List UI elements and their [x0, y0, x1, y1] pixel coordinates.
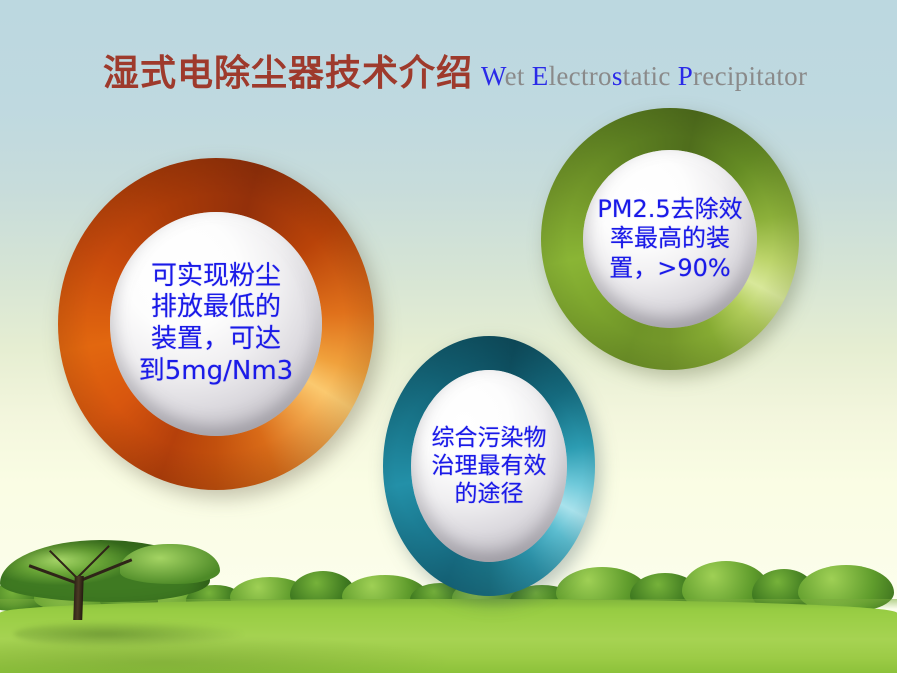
subtitle-segment: W: [481, 61, 505, 91]
subtitle-segment: recipitator: [693, 61, 807, 91]
subtitle-segment: tatic: [623, 61, 678, 91]
bubble-inner-teal: 综合污染物 治理最有效 的途径: [411, 370, 567, 562]
subtitle-segment: lectro: [549, 61, 612, 91]
bubble-inner-green: PM2.5去除效 率最高的装 置，>90%: [583, 150, 757, 328]
foreground-tree: [0, 540, 210, 618]
page-title-chinese: 湿式电除尘器技术介绍: [103, 53, 473, 93]
tree-trunk: [73, 576, 84, 620]
bubble-text-teal: 综合污染物 治理最有效 的途径: [432, 424, 547, 508]
subtitle-segment: et: [505, 61, 532, 91]
slide-heading: 湿式电除尘器技术介绍Wet Electrostatic Precipitator: [103, 44, 807, 96]
bubble-text-green: PM2.5去除效 率最高的装 置，>90%: [597, 195, 742, 283]
bubble-orange[interactable]: 可实现粉尘 排放最低的 装置，可达 到5mg/Nm3: [58, 158, 374, 490]
bubble-green[interactable]: PM2.5去除效 率最高的装 置，>90%: [541, 108, 799, 370]
bubble-inner-orange: 可实现粉尘 排放最低的 装置，可达 到5mg/Nm3: [110, 212, 322, 436]
tree-shadow: [14, 621, 244, 647]
bubble-teal[interactable]: 综合污染物 治理最有效 的途径: [383, 336, 595, 596]
subtitle-segment: P: [678, 61, 693, 91]
subtitle-segment: E: [532, 61, 549, 91]
page-subtitle-english: Wet Electrostatic Precipitator: [481, 61, 807, 91]
tree-canopy-secondary: [120, 544, 220, 584]
subtitle-segment: s: [612, 61, 623, 91]
bubble-text-orange: 可实现粉尘 排放最低的 装置，可达 到5mg/Nm3: [139, 261, 293, 388]
slide-canvas: 湿式电除尘器技术介绍Wet Electrostatic Precipitator…: [0, 0, 897, 673]
